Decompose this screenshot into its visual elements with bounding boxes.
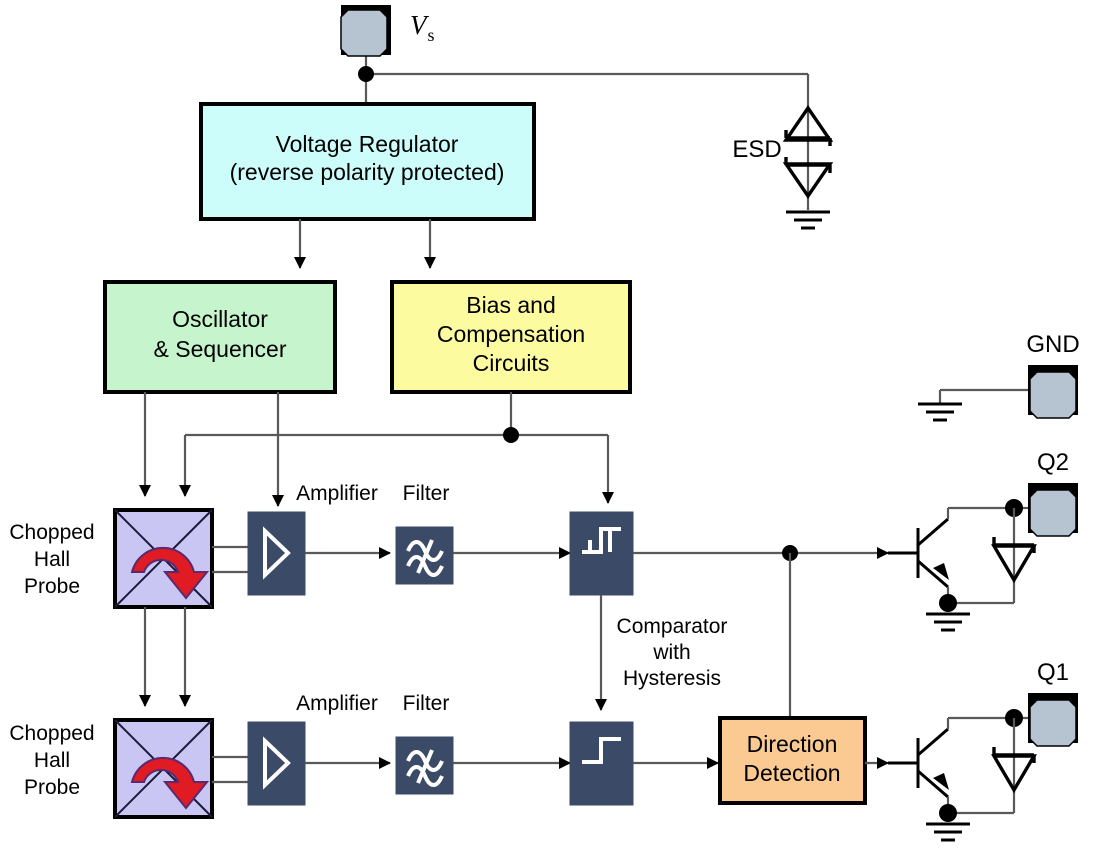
hall-probe-bottom[interactable]	[115, 720, 212, 817]
bias-label-line1: Bias and	[466, 292, 556, 318]
block-voltage-regulator[interactable]: Voltage Regulator (reverse polarity prot…	[201, 104, 534, 219]
block-filter-bottom[interactable]	[396, 737, 453, 794]
oscillator-label-line2: & Sequencer	[154, 336, 287, 362]
hall-probe-top-label-line1: Chopped	[9, 521, 94, 544]
junction-dot-bias	[503, 427, 519, 443]
hall-probe-bottom-label-line2: Hall	[34, 749, 70, 772]
block-bias-compensation[interactable]: Bias and Compensation Circuits	[392, 282, 630, 392]
pad-q2[interactable]	[1028, 483, 1078, 536]
voltage-regulator-label-line2: (reverse polarity protected)	[230, 159, 505, 185]
ground-symbol-gnd	[918, 404, 962, 420]
pad-q1[interactable]	[1028, 693, 1078, 746]
amplifier-bottom-label: Amplifier	[296, 692, 378, 715]
esd-network	[786, 104, 830, 228]
esd-label: ESD	[732, 136, 781, 163]
direction-detection-label-line2: Detection	[743, 760, 840, 786]
ground-symbol-q2	[926, 614, 970, 630]
hall-top-to-hall-bottom-wires	[145, 607, 185, 706]
block-oscillator-sequencer[interactable]: Oscillator & Sequencer	[105, 282, 335, 392]
pin-label-gnd: GND	[1026, 331, 1079, 358]
ground-symbol-esd	[786, 212, 830, 228]
gnd-net	[918, 390, 1028, 420]
comparator-label-line3: Hysteresis	[623, 667, 721, 690]
supply-net	[358, 42, 808, 104]
block-diagram-canvas: Vs ESD Voltage Regulator (reverse polari…	[0, 0, 1100, 865]
voltage-regulator-label-line1: Voltage Regulator	[276, 131, 459, 157]
output-stage-q2	[888, 499, 1034, 630]
oscillator-label-line1: Oscillator	[172, 306, 268, 332]
comparator-label-line2: with	[652, 641, 690, 664]
hall-probe-top-label-line2: Hall	[34, 548, 70, 571]
pin-label-q1: Q1	[1037, 659, 1069, 686]
oscillator-output-wires	[145, 392, 278, 506]
bias-label-line3: Circuits	[473, 350, 550, 376]
junction-dot-q2-gnd	[939, 594, 957, 612]
block-amplifier-top[interactable]	[248, 512, 305, 595]
pin-label-vs: Vs	[410, 10, 435, 45]
regulator-output-wires	[300, 219, 430, 268]
bias-label-line2: Compensation	[437, 321, 585, 347]
hall-probe-bottom-label-line3: Probe	[24, 776, 80, 799]
filter-top-label: Filter	[403, 482, 450, 505]
bias-bus-wires	[185, 392, 608, 503]
filter-bottom-label: Filter	[403, 692, 450, 715]
junction-dot-vs	[358, 66, 374, 82]
pad-gnd[interactable]	[1028, 365, 1078, 418]
block-comparator-bottom[interactable]	[570, 722, 633, 805]
block-direction-detection[interactable]: Direction Detection	[720, 718, 865, 803]
direction-detection-label-line1: Direction	[747, 731, 838, 757]
ground-symbol-q1	[926, 824, 970, 840]
output-stage-q1	[888, 709, 1034, 840]
hall-probe-top[interactable]	[115, 510, 212, 607]
hall-probe-bottom-label-line1: Chopped	[9, 722, 94, 745]
hall-bottom-to-amp-wires	[212, 757, 248, 782]
block-filter-top[interactable]	[396, 527, 453, 584]
hall-top-to-amp-wires	[212, 547, 248, 572]
junction-dot-q1-gnd	[939, 804, 957, 822]
block-comparator-top[interactable]	[570, 512, 633, 595]
amplifier-top-label: Amplifier	[296, 482, 378, 505]
pin-label-q2: Q2	[1037, 449, 1069, 476]
block-amplifier-bottom[interactable]	[248, 722, 305, 805]
pad-vs[interactable]	[341, 5, 391, 56]
hall-probe-top-label-line3: Probe	[24, 575, 80, 598]
comparator-label-line1: Comparator	[617, 615, 728, 638]
